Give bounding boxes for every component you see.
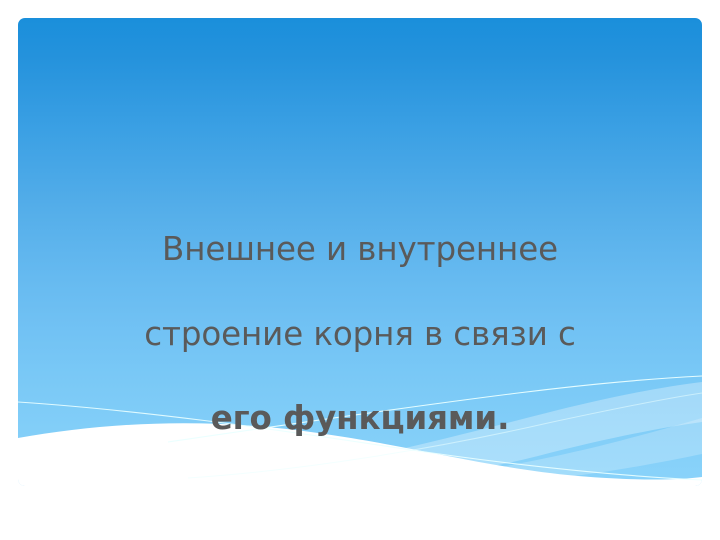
slide-title: Внешнее и внутреннее строение корня в св… (60, 186, 660, 482)
title-line-2: строение корня в связи с (60, 313, 660, 355)
presentation-slide: Внешнее и внутреннее строение корня в св… (0, 0, 720, 540)
title-line-3: его функциями. (60, 397, 660, 439)
title-line-1: Внешнее и внутреннее (60, 228, 660, 270)
